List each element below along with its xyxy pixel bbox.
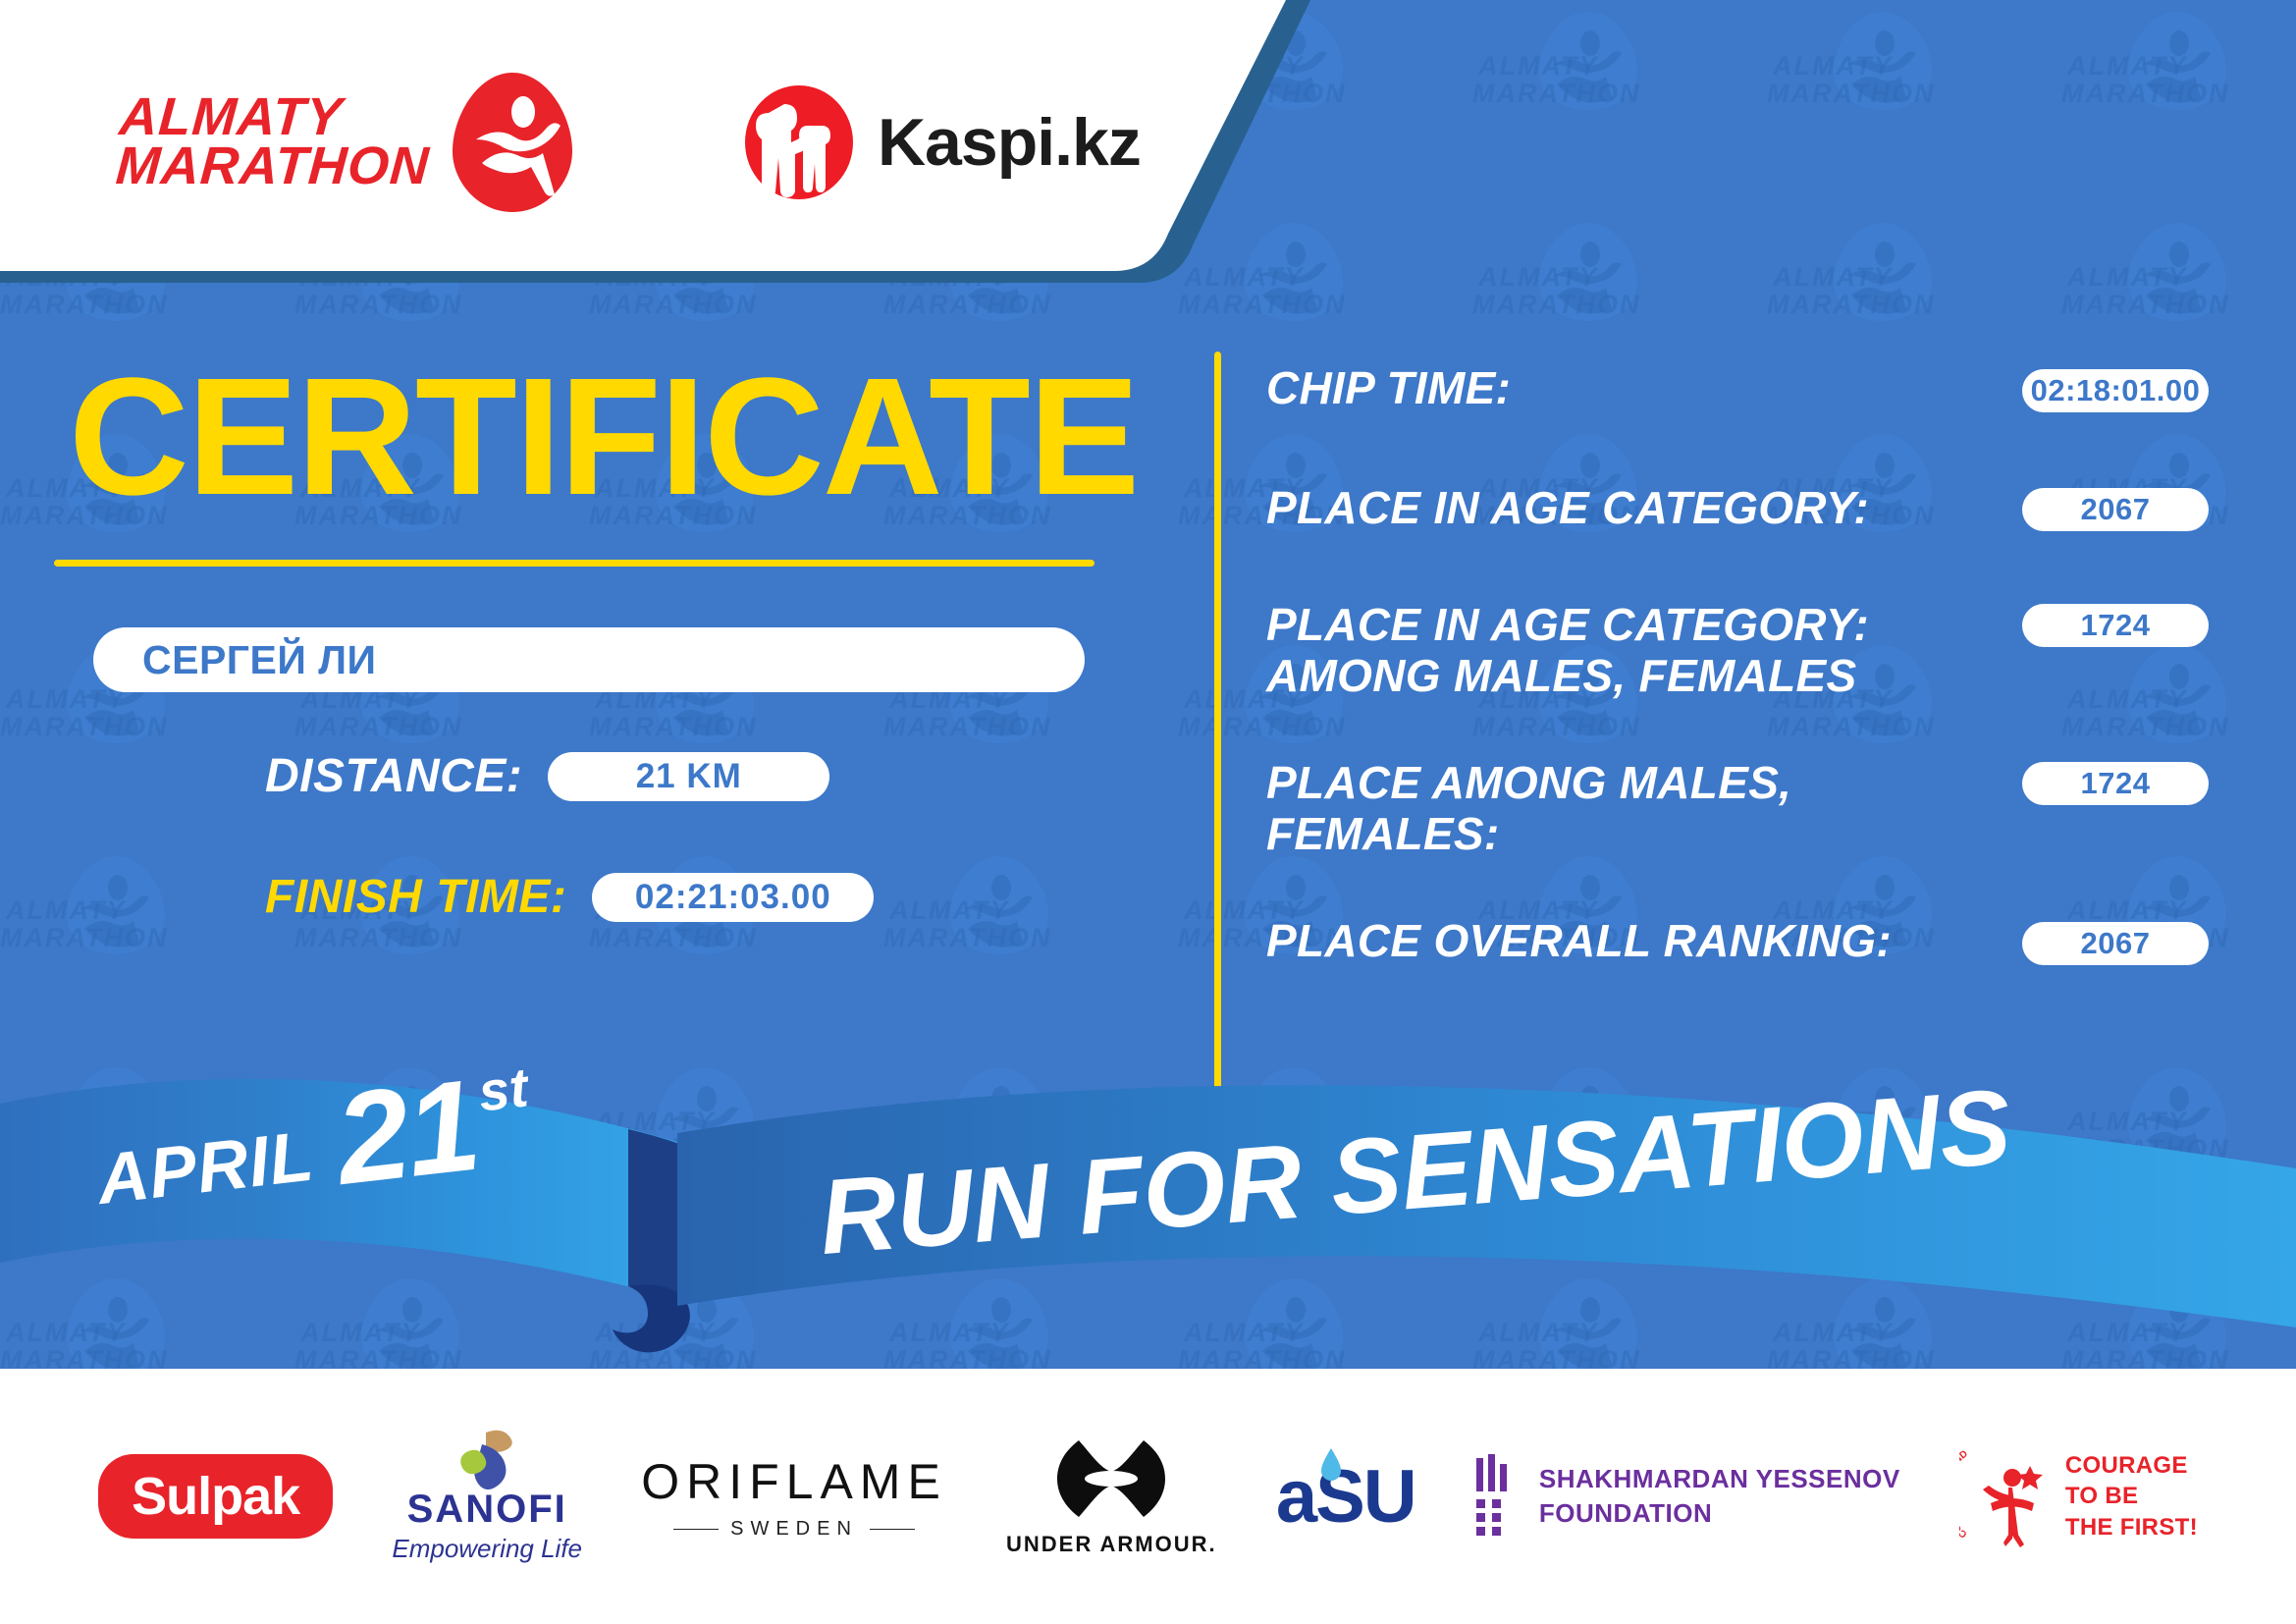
yessenov-bars-icon [1474,1454,1520,1539]
stat-label-line1: PLACE IN AGE CATEGORY: [1266,600,1869,651]
almaty-marathon-logo: ALMATY MARATHON [118,69,576,216]
courage-fund-runner-icon: CORPORATE FUND [1959,1444,2054,1548]
sponsor-under-armour: UNDER ARMOUR. [1006,1436,1217,1557]
sulpak-logo: Sulpak [98,1454,333,1539]
stat-label: CHIP TIME: [1266,363,1511,414]
finish-time-row: FINISH TIME: 02:21:03.00 [265,870,1207,924]
kaspi-wordmark: Kaspi.kz [878,104,1141,181]
stat-row-place-age-category-among: PLACE IN AGE CATEGORY: AMONG MALES, FEMA… [1266,600,2209,701]
sponsor-asu: aSU [1276,1454,1415,1540]
event-day: 21 [331,1064,484,1199]
asu-droplet-icon [1319,1448,1343,1482]
asu-logo: aSU [1276,1454,1415,1540]
finish-time-label: FINISH TIME: [265,870,566,924]
stat-label: PLACE AMONG MALES, FEMALES: [1266,758,1791,859]
stat-value: 2067 [2022,922,2209,965]
asu-name: aSU [1276,1455,1415,1539]
certificate-page: ALMATY MARATHON ALMATY MARATHON [0,0,2296,1624]
event-month: APRIL [93,1116,318,1220]
stat-value: 1724 [2022,762,2209,805]
yessenov-text: SHAKHMARDAN YESSENOV FOUNDATION [1539,1462,1900,1531]
stat-value: 2067 [2022,488,2209,531]
sanofi-mark-icon [392,1429,582,1486]
stat-row-place-overall-ranking: PLACE OVERALL RANKING: 2067 [1266,916,2209,967]
sponsor-strip: Sulpak SANOFI Empowering Life ORIFLAME [0,1369,2296,1624]
stat-label-line1: PLACE AMONG MALES, [1266,758,1791,809]
almaty-line: ALMATY [118,93,434,142]
column-divider [1214,352,1221,1098]
under-armour-name: UNDER ARMOUR. [1006,1532,1217,1557]
oriflame-rule-right [870,1529,915,1530]
participant-name-field: СЕРГЕЙ ЛИ [93,627,1085,692]
svg-text:CORPORATE FUND: CORPORATE FUND [1959,1448,1970,1540]
sponsor-sulpak: Sulpak [98,1454,333,1539]
sponsor-courage-fund: CORPORATE FUND COURAGE TO BE THE FIRST! [1959,1444,2198,1548]
certificate-stats-column: CHIP TIME: 02:18:01.00 PLACE IN AGE CATE… [1266,363,2209,967]
oriflame-sub: SWEDEN [641,1518,947,1541]
sanofi-tagline: Empowering Life [392,1534,582,1564]
yessenov-line1: SHAKHMARDAN YESSENOV [1539,1462,1900,1496]
page-title: CERTIFICATE [0,295,1207,520]
stat-label: PLACE IN AGE CATEGORY: AMONG MALES, FEMA… [1266,600,1869,701]
finish-time-value: 02:21:03.00 [592,873,874,922]
courage-line1: COURAGE [2065,1450,2198,1481]
stat-label: PLACE OVERALL RANKING: [1266,916,1892,967]
sponsor-yessenov-foundation: SHAKHMARDAN YESSENOV FOUNDATION [1474,1454,1900,1539]
participant-name-value: СЕРГЕЙ ЛИ [142,637,377,683]
sponsor-oriflame: ORIFLAME SWEDEN [641,1453,947,1541]
stat-value: 02:18:01.00 [2022,369,2209,412]
title-divider [54,560,1095,567]
marathon-line: MARATHON [115,142,431,191]
stat-row-place-among-males-females: PLACE AMONG MALES, FEMALES: 1724 [1266,758,2209,859]
oriflame-sweden: SWEDEN [730,1518,858,1541]
stat-label: PLACE IN AGE CATEGORY: [1266,483,1869,534]
sponsor-sanofi: SANOFI Empowering Life [392,1429,582,1564]
kaspi-logo: Kaspi.kz [743,79,1141,206]
stat-row-chip-time: CHIP TIME: 02:18:01.00 [1266,363,2209,414]
oriflame-rule-left [673,1529,719,1530]
courage-line3: THE FIRST! [2065,1512,2198,1543]
stat-row-place-age-category: PLACE IN AGE CATEGORY: 2067 [1266,483,2209,534]
courage-line2: TO BE [2065,1481,2198,1511]
distance-value: 21 KM [548,752,829,801]
courage-text: COURAGE TO BE THE FIRST! [2065,1450,2198,1543]
distance-label: DISTANCE: [265,749,522,803]
header-logos: ALMATY MARATHON Kaspi.kz [0,0,1141,285]
stat-label-line2: FEMALES: [1266,809,1791,860]
almaty-marathon-wordmark: ALMATY MARATHON [115,93,435,190]
oriflame-name: ORIFLAME [641,1453,947,1510]
kaspi-people-circle-icon [743,79,856,206]
distance-row: DISTANCE: 21 KM [265,749,1207,803]
stat-value: 1724 [2022,604,2209,647]
certificate-left-column: CERTIFICATE СЕРГЕЙ ЛИ DISTANCE: 21 KM FI… [0,295,1207,924]
stat-label-line2: AMONG MALES, FEMALES [1266,651,1869,702]
sanofi-name: SANOFI [392,1488,582,1532]
event-date: APRIL 21 st [89,1055,538,1226]
event-slogan: RUN FOR SENSATIONS [815,1064,2014,1278]
yessenov-line2: FOUNDATION [1539,1496,1900,1531]
almaty-marathon-drop-runner-icon [449,69,576,216]
under-armour-icon [1049,1436,1173,1521]
event-day-suffix: st [475,1055,531,1123]
